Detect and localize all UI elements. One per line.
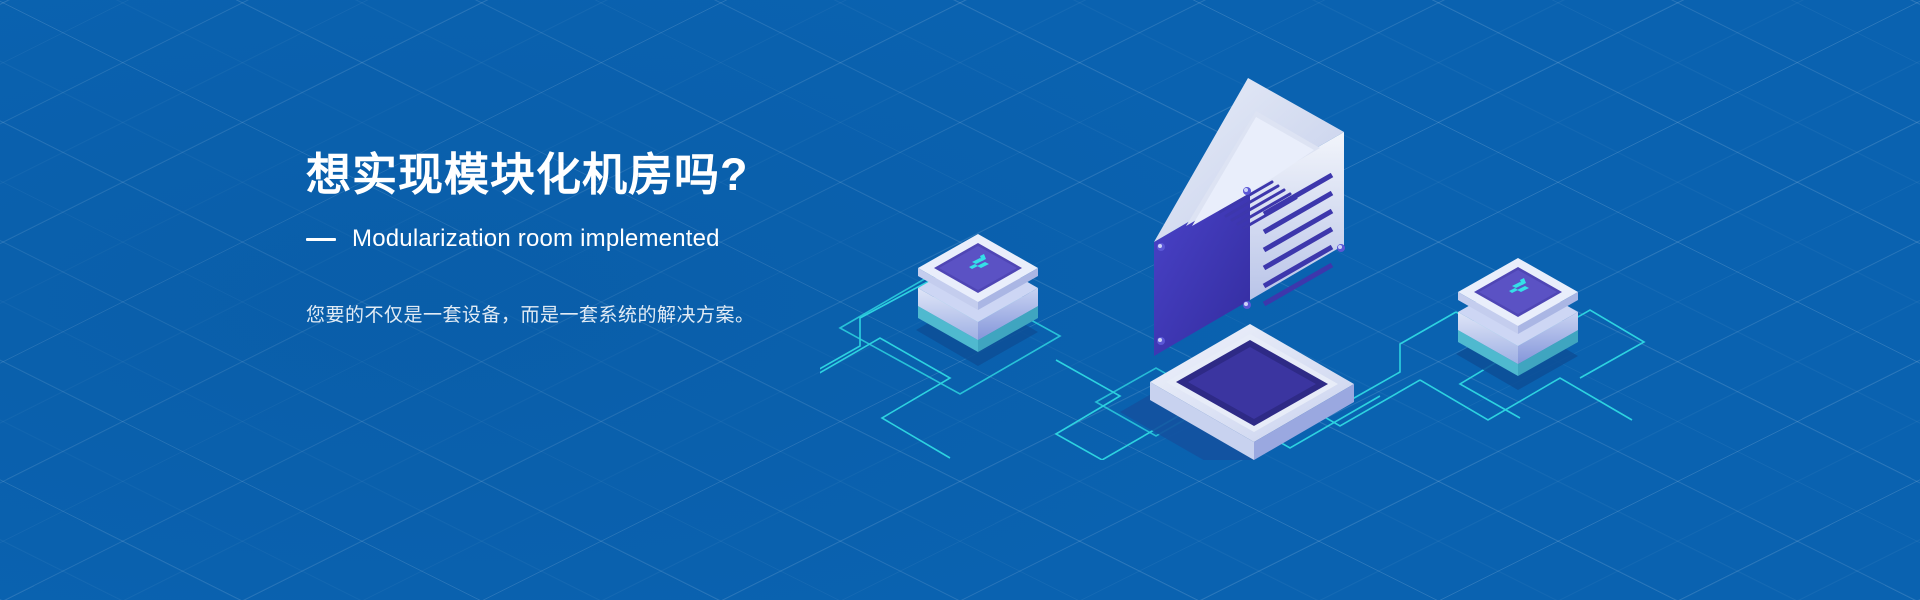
server-tower — [1150, 78, 1354, 460]
hero-banner: 想实现模块化机房吗? Modularization room implement… — [0, 0, 1920, 600]
banner-subtitle: Modularization room implemented — [352, 225, 720, 253]
isometric-server-illustration — [820, 60, 1680, 460]
dash-icon — [306, 238, 336, 241]
